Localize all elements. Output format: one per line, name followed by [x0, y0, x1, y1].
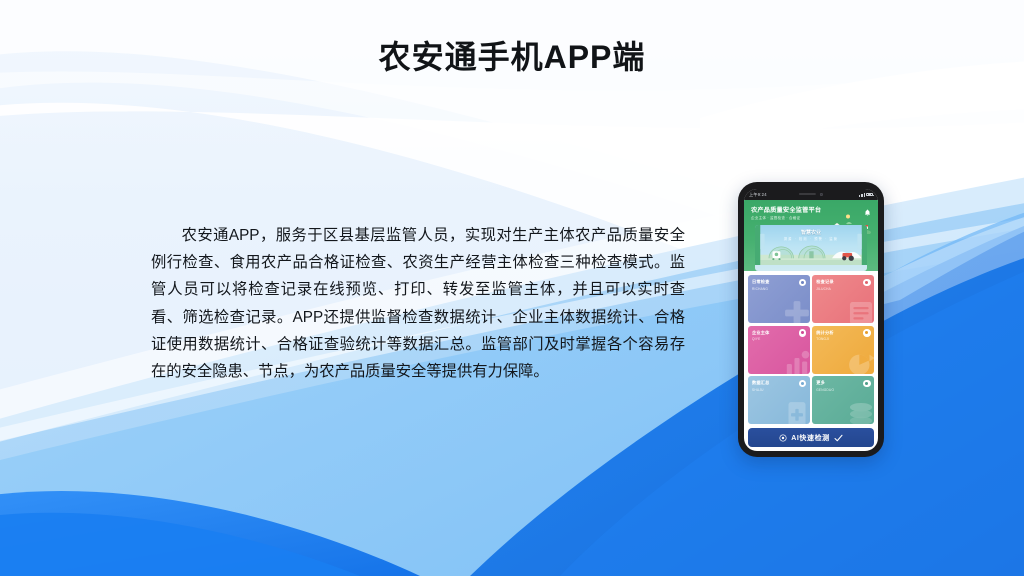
phone-screen: 上午9:24 — [744, 189, 878, 451]
tile-sublabel: TONGJI — [816, 337, 870, 341]
arrow-badge-icon[interactable] — [863, 380, 871, 388]
app-header: 农产品质量安全监管平台 企业主体 · 监督检查 · 合格证 — [744, 200, 878, 271]
phone-status-bar: 上午9:24 — [744, 189, 878, 200]
doc-icon — [780, 397, 810, 424]
tile-sublabel: JILUCHA — [816, 287, 870, 291]
page-title: 农安通手机APP端 — [379, 32, 646, 78]
tile-label: 更多 — [816, 380, 870, 386]
phone-notch — [799, 193, 823, 196]
speaker-icon — [799, 193, 816, 196]
arrow-badge-icon[interactable] — [799, 329, 807, 337]
ai-quick-detection-button[interactable]: AI快速检测 — [748, 428, 874, 447]
layers-icon — [844, 397, 874, 424]
tile-label: 统计分析 — [816, 330, 870, 336]
bell-icon[interactable] — [864, 204, 871, 212]
tile-data-summary[interactable]: 数据汇总 SHUJU — [748, 376, 810, 424]
tile-label: 日常检查 — [752, 279, 806, 285]
app-banner[interactable]: 智慧农业 溯源 · 检测 · 预警 · 监管 — [755, 225, 867, 271]
tile-enterprise-entity[interactable]: 企业主体 QIYE — [748, 326, 810, 374]
tile-label: 数据汇总 — [752, 380, 806, 386]
description-block: 农安通APP，服务于区县基层监管人员，实现对生产主体农产品质量安全例行检查、食用… — [151, 222, 685, 385]
tile-sublabel: QIYE — [752, 337, 806, 341]
banner-tags: 溯源 · 检测 · 预警 · 监管 — [755, 236, 867, 241]
chart-icon — [780, 347, 810, 374]
tile-inspection-records[interactable]: 检查记录 JILUCHA — [812, 275, 874, 323]
tile-label: 检查记录 — [816, 279, 870, 285]
tile-sublabel: GENGDUO — [816, 388, 870, 392]
check-icon — [834, 434, 843, 442]
app-tile-grid: 日常检查 RICHANG 检查记录 JILUCHA — [744, 271, 878, 428]
list-icon — [844, 296, 874, 323]
arrow-badge-icon[interactable] — [863, 279, 871, 287]
camera-scan-icon — [779, 434, 787, 442]
tile-more[interactable]: 更多 GENGDUO — [812, 376, 874, 424]
banner-title: 智慧农业 — [755, 229, 867, 236]
camera-icon — [820, 193, 823, 196]
tile-sublabel: RICHANG — [752, 287, 806, 291]
page-header: 农安通手机APP端 — [0, 0, 1024, 110]
ai-button-label: AI快速检测 — [791, 433, 830, 443]
arrow-badge-icon[interactable] — [863, 329, 871, 337]
pie-icon — [844, 347, 874, 374]
tile-sublabel: SHUJU — [752, 388, 806, 392]
plus-icon — [780, 296, 810, 323]
status-indicators — [859, 193, 873, 197]
battery-icon — [866, 193, 873, 197]
tile-statistics-analysis[interactable]: 统计分析 TONGJI — [812, 326, 874, 374]
tile-label: 企业主体 — [752, 330, 806, 336]
status-time: 上午9:24 — [749, 192, 767, 198]
description-paragraph: 农安通APP，服务于区县基层监管人员，实现对生产主体农产品质量安全例行检查、食用… — [151, 222, 685, 385]
signal-icon — [859, 193, 864, 197]
phone-mockup: 上午9:24 — [738, 182, 884, 457]
tile-daily-inspection[interactable]: 日常检查 RICHANG — [748, 275, 810, 323]
